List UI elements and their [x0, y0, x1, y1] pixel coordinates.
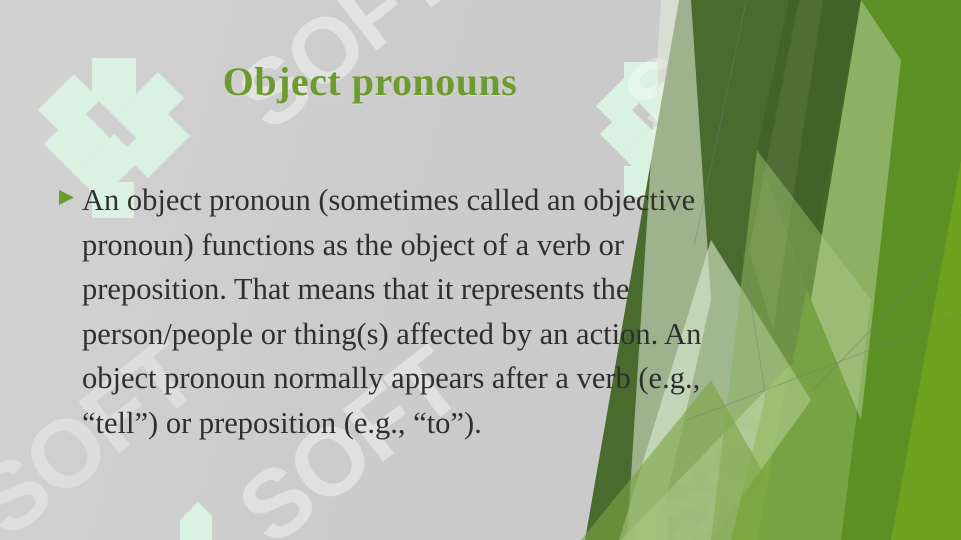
slide-title: Object pronouns: [0, 58, 740, 105]
triangle-right-bullet-icon: [58, 189, 76, 206]
slide-body: An object pronoun (sometimes called an o…: [58, 178, 748, 445]
bullet-text: An object pronoun (sometimes called an o…: [82, 178, 748, 445]
presentation-slide: SOFT SOFT SOFT SOFT SOFT: [0, 0, 961, 540]
